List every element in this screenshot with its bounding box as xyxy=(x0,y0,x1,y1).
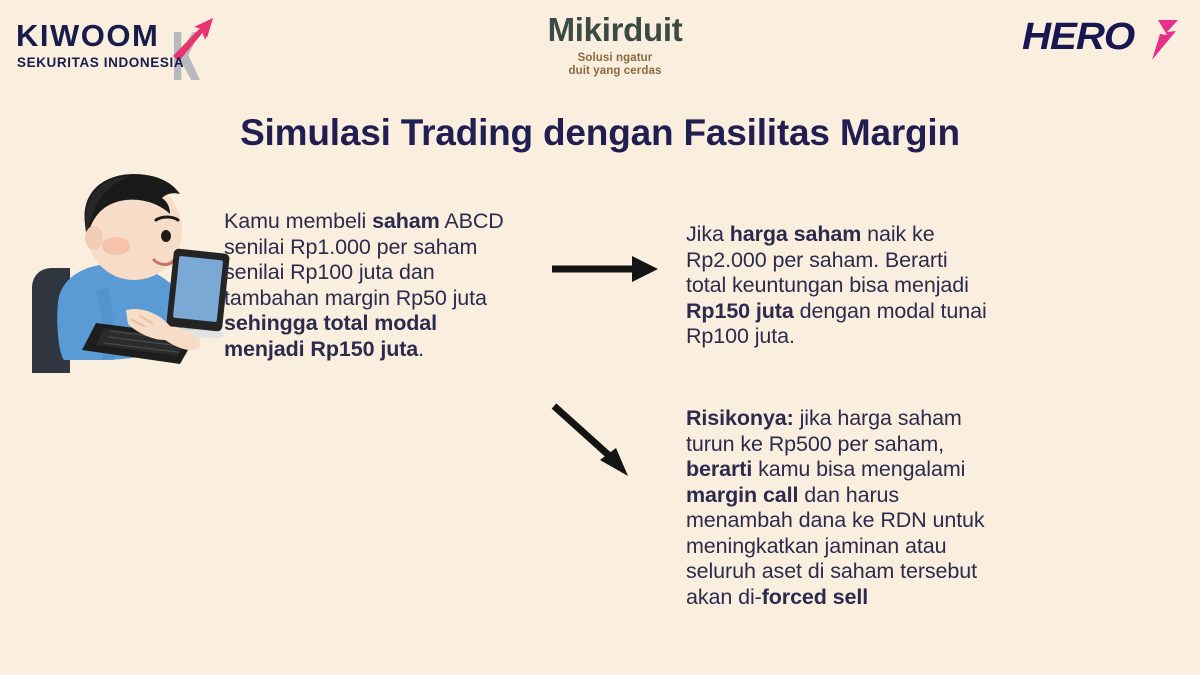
mikirduit-tagline-line2: duit yang cerdas xyxy=(500,65,730,79)
left-text-block: Kamu membeli saham ABCD senilai Rp1.000 … xyxy=(224,209,510,362)
mikirduit-tagline: Solusi ngatur duit yang cerdas xyxy=(500,52,730,79)
text-segment-3: Rp150 juta xyxy=(686,299,794,323)
hero-logo: HERO xyxy=(1022,16,1182,68)
text-segment-6: forced sell xyxy=(762,585,868,609)
text-segment-0: Risikonya: xyxy=(686,406,794,430)
person-typing-illustration xyxy=(30,168,230,393)
text-segment-3: sehingga total modal menjadi Rp150 juta xyxy=(224,311,437,361)
upper-right-text-block: Jika harga saham naik ke Rp2.000 per sah… xyxy=(686,222,991,350)
kiwoom-logo: KIWOOM SEKURITAS INDONESIA xyxy=(14,14,214,76)
mikirduit-tagline-line1: Solusi ngatur xyxy=(500,52,730,66)
hero-logo-name: HERO xyxy=(1022,18,1134,56)
lightning-bolt-icon xyxy=(1150,20,1180,62)
kiwoom-logo-subtitle: SEKURITAS INDONESIA xyxy=(17,56,184,70)
text-segment-3: kamu bisa mengalami xyxy=(752,457,965,481)
infographic-slide: KIWOOM SEKURITAS INDONESIA Mikirduit Sol… xyxy=(0,0,1200,675)
text-segment-1: saham xyxy=(372,209,440,233)
text-segment-0: Jika xyxy=(686,222,730,246)
arrow-to-risk-icon xyxy=(548,398,638,480)
kiwoom-logo-name: KIWOOM xyxy=(16,20,159,51)
mikirduit-logo: Mikirduit Solusi ngatur duit yang cerdas xyxy=(500,13,730,79)
page-title: Simulasi Trading dengan Fasilitas Margin xyxy=(0,112,1200,155)
mikirduit-logo-name: Mikirduit xyxy=(500,13,730,48)
text-segment-2: berarti xyxy=(686,457,752,481)
text-segment-0: Kamu membeli xyxy=(224,209,372,233)
arrow-to-profit-icon xyxy=(548,248,660,290)
text-segment-1: harga saham xyxy=(730,222,862,246)
text-segment-4: . xyxy=(418,337,424,361)
text-segment-4: margin call xyxy=(686,483,798,507)
lower-right-text-block: Risikonya: jika harga saham turun ke Rp5… xyxy=(686,406,996,610)
